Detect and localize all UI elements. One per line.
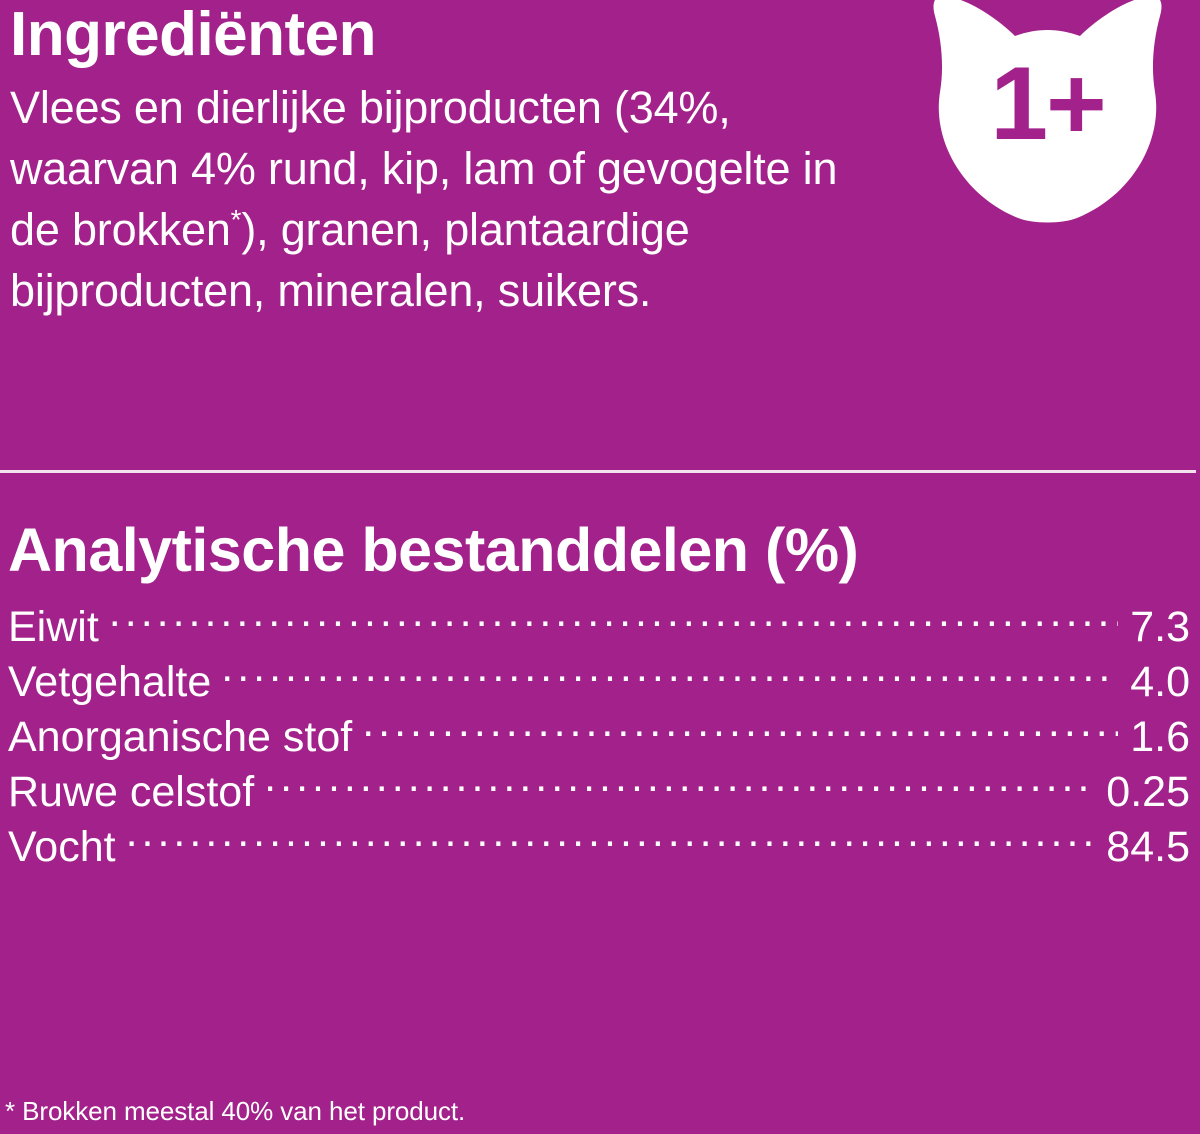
dot-leader <box>126 818 1095 861</box>
footnote-text: * Brokken meestal 40% van het product. <box>5 1096 465 1126</box>
list-item: Anorganische stof 1.6 <box>8 708 1190 763</box>
dot-leader <box>362 708 1118 751</box>
ingredients-title: Ingrediënten <box>10 0 880 67</box>
footnote-marker: * <box>231 204 242 235</box>
section-divider <box>0 470 1196 473</box>
ingredients-text: Vlees en dierlijke bijproducten (34%, wa… <box>10 67 840 321</box>
constituent-value: 84.5 <box>1096 822 1190 873</box>
constituent-label: Ruwe celstof <box>8 767 262 818</box>
constituent-value: 1.6 <box>1120 712 1190 763</box>
constituent-label: Vetgehalte <box>8 657 219 708</box>
analytical-constituents-title: Analytische bestanddelen (%) <box>8 518 1190 582</box>
nutrition-panel: 1+ Ingrediënten Vlees en dierlijke bijpr… <box>0 0 1200 1134</box>
constituent-label: Vocht <box>8 822 124 873</box>
analytical-constituents-section: Analytische bestanddelen (%) Eiwit 7.3 V… <box>0 518 1200 873</box>
constituent-label: Anorganische stof <box>8 712 360 763</box>
list-item: Ruwe celstof 0.25 <box>8 763 1190 818</box>
list-item: Vocht 84.5 <box>8 818 1190 873</box>
list-item: Vetgehalte 4.0 <box>8 653 1190 708</box>
dot-leader <box>264 763 1094 806</box>
cat-age-label: 1+ <box>905 52 1190 156</box>
constituent-value: 4.0 <box>1120 657 1190 708</box>
constituent-label: Eiwit <box>8 602 107 653</box>
constituent-value: 7.3 <box>1120 602 1190 653</box>
dot-leader <box>221 653 1118 696</box>
constituent-value: 0.25 <box>1096 767 1190 818</box>
dot-leader <box>109 598 1118 641</box>
list-item: Eiwit 7.3 <box>8 598 1190 653</box>
ingredients-section: Ingrediënten Vlees en dierlijke bijprodu… <box>0 0 880 321</box>
analytical-constituents-list: Eiwit 7.3 Vetgehalte 4.0 Anorganische st… <box>8 598 1190 873</box>
